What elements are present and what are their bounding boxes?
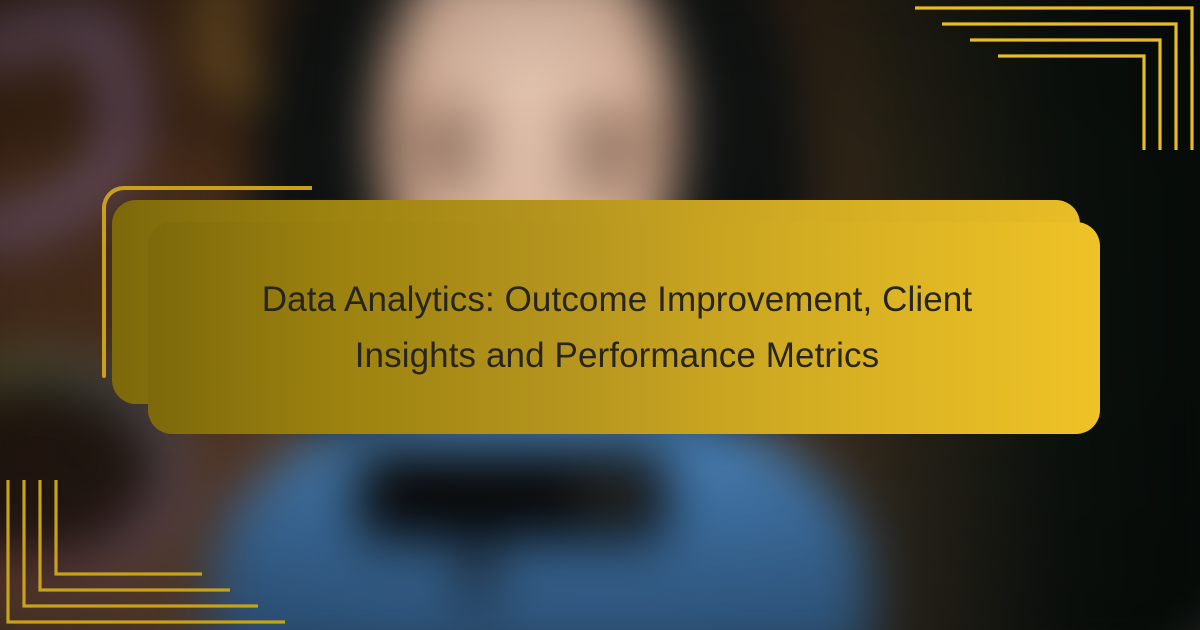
title-card: Data Analytics: Outcome Improvement, Cli… bbox=[100, 186, 1100, 448]
microphone-indicator bbox=[580, 488, 638, 510]
card-outline-tail bbox=[102, 282, 106, 378]
page-title: Data Analytics: Outcome Improvement, Cli… bbox=[197, 272, 1037, 384]
card-front-plate: Data Analytics: Outcome Improvement, Cli… bbox=[148, 222, 1100, 434]
page-title-line-1: Data Analytics: Outcome Improvement, Cli… bbox=[262, 280, 972, 319]
microphone-stand bbox=[466, 538, 488, 608]
page-title-line-2: Insights and Performance Metrics bbox=[355, 336, 880, 375]
person-eye-left bbox=[412, 156, 486, 176]
person-eye-right bbox=[566, 160, 640, 180]
